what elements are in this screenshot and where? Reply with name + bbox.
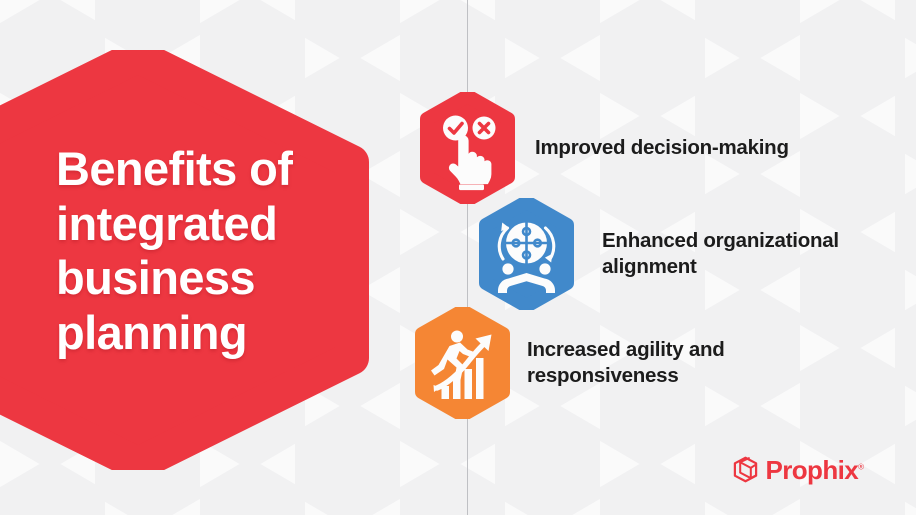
slide-canvas: Benefits of integrated business planning… — [0, 0, 916, 515]
title-line-3: business — [56, 251, 386, 306]
title-line-2: integrated — [56, 197, 386, 252]
page-title: Benefits of integrated business planning — [56, 142, 386, 360]
benefit-label: Improved decision-making — [535, 135, 789, 161]
pointing-hand-check-cross-icon — [414, 92, 521, 204]
trademark-symbol: ® — [858, 462, 864, 471]
prophix-cube-logo-icon — [732, 456, 759, 483]
prophix-wordmark: Prophix® — [766, 457, 865, 483]
puzzle-people-alignment-icon — [473, 198, 580, 310]
prophix-logo[interactable]: Prophix® — [732, 456, 865, 483]
benefit-label: Enhanced organizational alignment — [602, 228, 839, 280]
title-line-1: Benefits of — [56, 142, 386, 197]
benefit-item-enhanced-organizational-alignment[interactable]: Enhanced organizational alignment — [473, 198, 839, 310]
logo-word-text: Prophix — [766, 455, 859, 485]
benefit-label: Increased agility and responsiveness — [527, 337, 725, 389]
title-line-4: planning — [56, 306, 386, 361]
benefit-item-increased-agility-responsiveness[interactable]: Increased agility and responsiveness — [409, 307, 725, 419]
benefit-item-improved-decision-making[interactable]: Improved decision-making — [414, 92, 789, 204]
running-person-growth-chart-icon — [409, 307, 516, 419]
vertical-divider-line — [467, 0, 468, 515]
